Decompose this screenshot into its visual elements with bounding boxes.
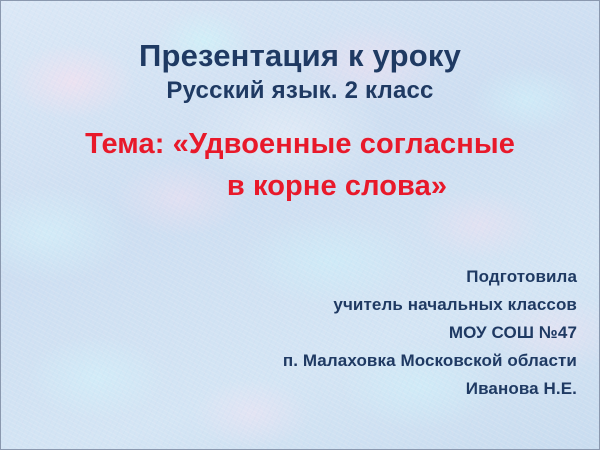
credits-line-prepared-by: Подготовила <box>283 263 577 291</box>
theme-line-first: Тема: «Удвоенные согласные <box>1 127 599 161</box>
credits-block: Подготовила учитель начальных классов МО… <box>283 263 577 403</box>
credits-line-role: учитель начальных классов <box>283 291 577 319</box>
title-block: Презентация к уроку Русский язык. 2 клас… <box>1 39 599 106</box>
theme-block: Тема: «Удвоенные согласные в корне слова… <box>1 127 599 203</box>
credits-line-author: Иванова Н.Е. <box>283 375 577 403</box>
credits-line-location: п. Малаховка Московской области <box>283 347 577 375</box>
credits-line-school: МОУ СОШ №47 <box>283 319 577 347</box>
presentation-slide: Презентация к уроку Русский язык. 2 клас… <box>0 0 600 450</box>
presentation-title: Презентация к уроку <box>1 39 599 74</box>
presentation-subtitle: Русский язык. 2 класс <box>1 77 599 106</box>
theme-line-second: в корне слова» <box>1 169 599 203</box>
slide-content: Презентация к уроку Русский язык. 2 клас… <box>1 1 599 449</box>
